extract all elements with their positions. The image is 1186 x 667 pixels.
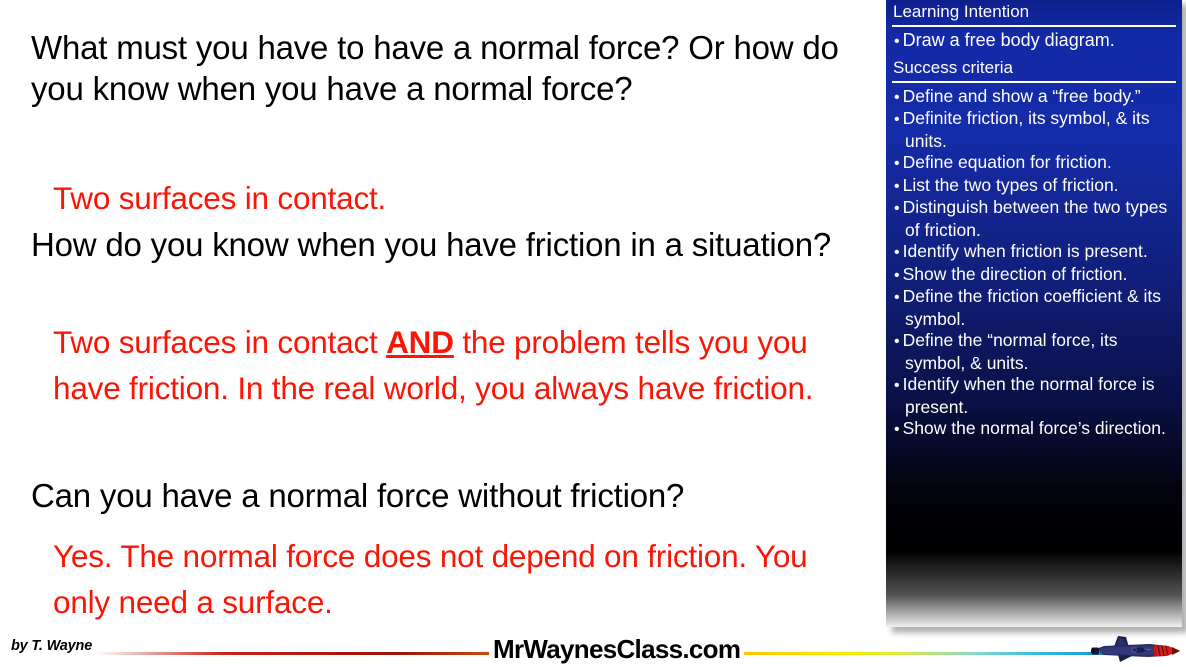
success-criteria-item: Show the normal force’s direction.: [886, 418, 1182, 441]
answer-2-emphasis-and: AND: [386, 324, 454, 360]
answer-block-1: Two surfaces in contact.: [0, 175, 875, 221]
question-text-3: Can you have a normal force without fric…: [0, 475, 875, 516]
answer-text-3: Yes. The normal force does not depend on…: [0, 533, 875, 625]
slide-main-content: What must you have to have a normal forc…: [0, 0, 875, 620]
success-criteria-list: Define and show a “free body.” Definite …: [886, 86, 1182, 441]
question-block-1: What must you have to have a normal forc…: [0, 27, 875, 109]
question-block-2: How do you know when you have friction i…: [0, 224, 875, 265]
learning-intention-item: Draw a free body diagram.: [886, 29, 1182, 54]
success-criteria-divider: [892, 81, 1176, 83]
success-criteria-item: Define the “normal force, its symbol, & …: [886, 330, 1182, 374]
footer-site-name: MrWaynesClass.com: [489, 634, 744, 664]
jet-rocket-icon: [1088, 632, 1186, 666]
success-criteria-item: Show the direction of friction.: [886, 264, 1182, 287]
success-criteria-item: Define and show a “free body.”: [886, 86, 1182, 109]
answer-block-2: Two surfaces in contact AND the problem …: [0, 319, 875, 411]
answer-2-part-before: Two surfaces in contact: [53, 324, 386, 360]
answer-block-3: Yes. The normal force does not depend on…: [0, 533, 875, 625]
success-criteria-item: Distinguish between the two types of fri…: [886, 197, 1182, 241]
success-criteria-item: Identify when the normal force is presen…: [886, 374, 1182, 418]
learning-intention-heading: Learning Intention: [886, 0, 1182, 24]
success-criteria-item: Define the friction coefficient & its sy…: [886, 286, 1182, 330]
learning-intention-divider: [892, 25, 1176, 27]
success-criteria-item: Define equation for friction.: [886, 152, 1182, 175]
question-text-1: What must you have to have a normal forc…: [0, 27, 875, 109]
slide-footer: by T. Wayne MrWaynesClass.com: [0, 627, 1186, 667]
success-criteria-item: Identify when friction is present.: [886, 241, 1182, 264]
question-block-3: Can you have a normal force without fric…: [0, 475, 875, 516]
question-text-2: How do you know when you have friction i…: [0, 224, 875, 265]
objectives-panel: Learning Intention Draw a free body diag…: [886, 0, 1182, 627]
success-criteria-item: Definite friction, its symbol, & its uni…: [886, 108, 1182, 152]
success-criteria-heading: Success criteria: [886, 54, 1182, 80]
answer-text-1: Two surfaces in contact.: [0, 175, 875, 221]
learning-intention-list: Draw a free body diagram.: [886, 29, 1182, 54]
footer-author-credit: by T. Wayne: [11, 638, 92, 654]
answer-text-2: Two surfaces in contact AND the problem …: [0, 319, 875, 411]
success-criteria-item: List the two types of friction.: [886, 175, 1182, 198]
objectives-panel-wrapper: Learning Intention Draw a free body diag…: [886, 0, 1186, 631]
